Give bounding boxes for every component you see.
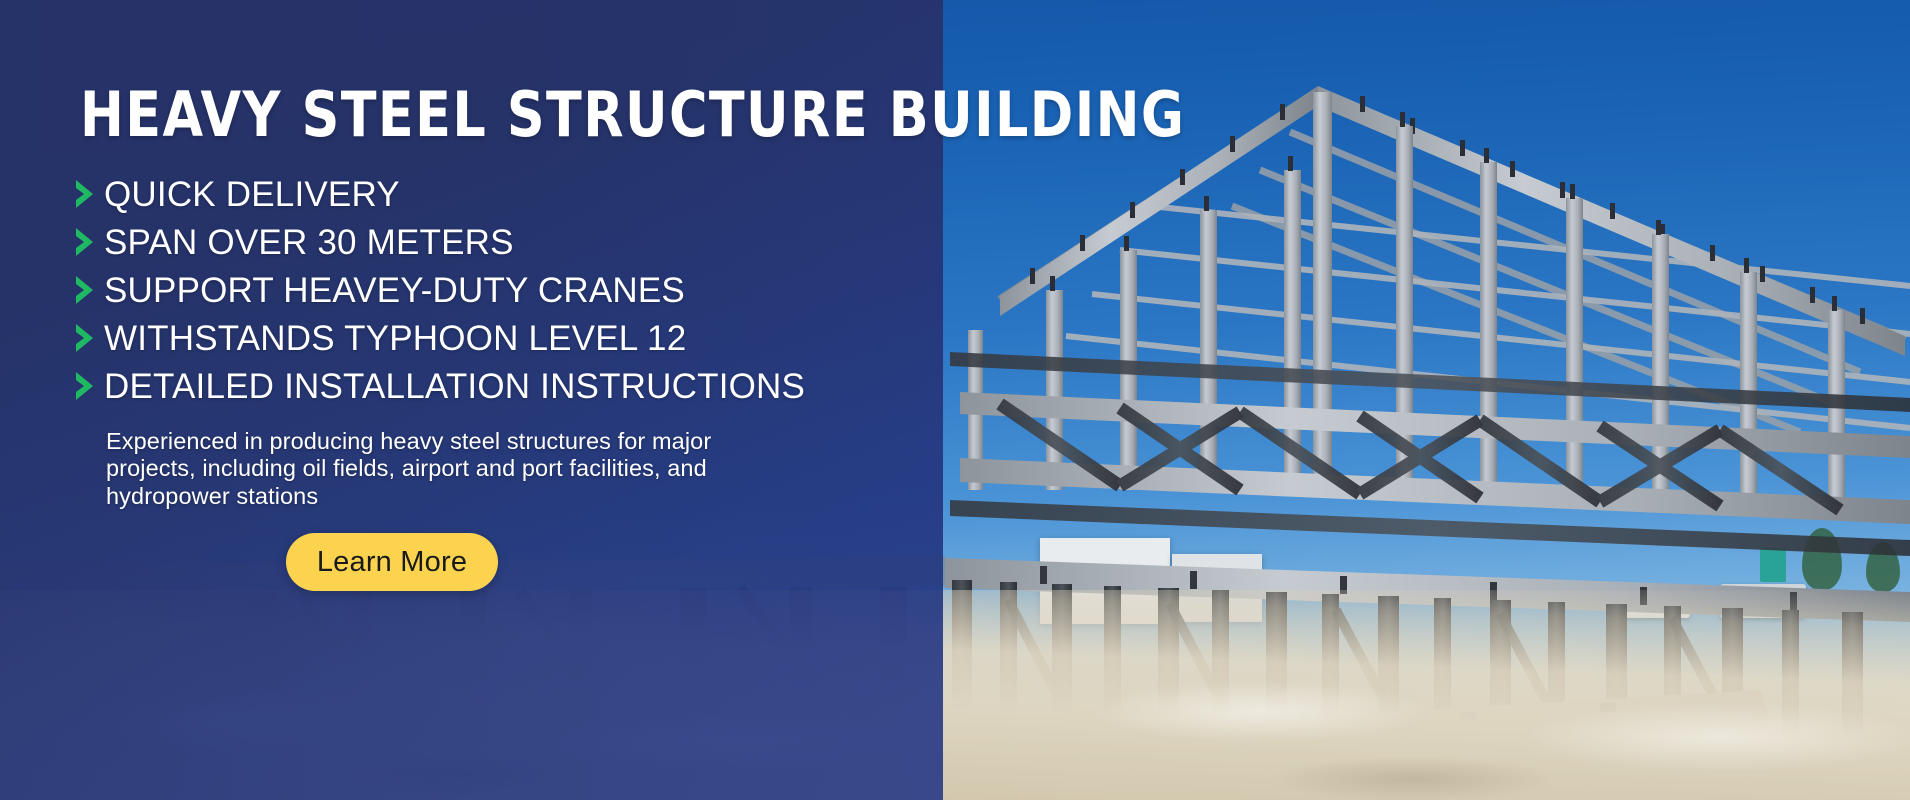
feature-list: QUICK DELIVERY SPAN OVER 30 METERS SUPPO… [74, 170, 805, 410]
feature-item-support-heavy-duty-cranes: SUPPORT HEAVEY-DUTY CRANES [74, 266, 805, 314]
feature-item-quick-delivery: QUICK DELIVERY [74, 170, 805, 218]
page-title: HEAVY STEEL STRUCTURE BUILDING [80, 82, 1185, 147]
feature-label: SUPPORT HEAVEY-DUTY CRANES [104, 273, 685, 308]
chevron-right-icon [74, 179, 96, 209]
banner-content: HEAVY STEEL STRUCTURE BUILDING QUICK DEL… [0, 0, 1200, 800]
chevron-right-icon [74, 323, 96, 353]
feature-label: QUICK DELIVERY [104, 177, 400, 212]
description-text: Experienced in producing heavy steel str… [106, 428, 786, 510]
chevron-right-icon [74, 371, 96, 401]
feature-item-withstands-typhoon-level-12: WITHSTANDS TYPHOON LEVEL 12 [74, 314, 805, 362]
chevron-right-icon [74, 227, 96, 257]
feature-item-detailed-installation-instructions: DETAILED INSTALLATION INSTRUCTIONS [74, 362, 805, 410]
feature-label: DETAILED INSTALLATION INSTRUCTIONS [104, 369, 805, 404]
feature-label: WITHSTANDS TYPHOON LEVEL 12 [104, 321, 686, 356]
feature-label: SPAN OVER 30 METERS [104, 225, 514, 260]
feature-item-span-over-30-meters: SPAN OVER 30 METERS [74, 218, 805, 266]
hero-banner: HEAVY STEEL STRUCTURE BUILDING QUICK DEL… [0, 0, 1910, 800]
chevron-right-icon [74, 275, 96, 305]
learn-more-button[interactable]: Learn More [286, 533, 498, 591]
